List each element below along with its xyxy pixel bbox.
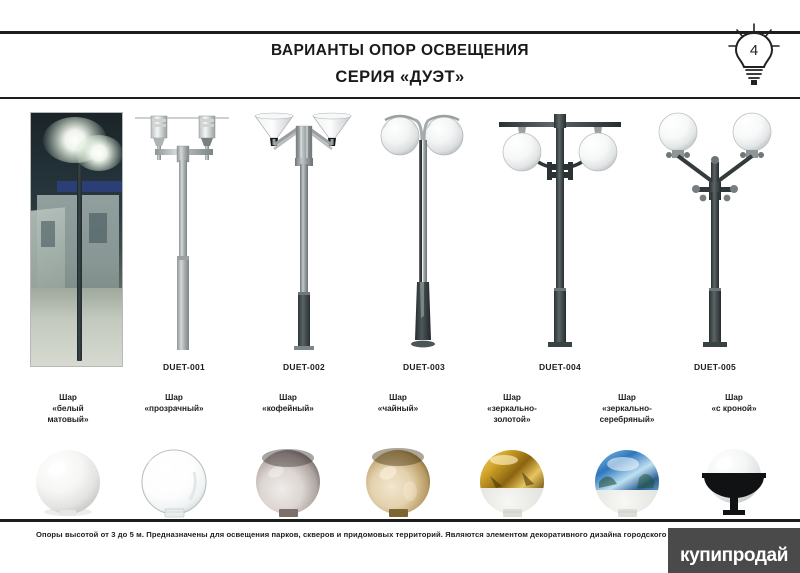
night-photo bbox=[30, 112, 123, 367]
globe-label-line1: Шар bbox=[572, 392, 682, 403]
pole-variant-duet-003: DUET-003 bbox=[368, 104, 480, 372]
globe-label-line1: Шар bbox=[682, 392, 786, 403]
globe-variant-tea: Шар «чайный» bbox=[348, 392, 448, 520]
page-title-line1: ВАРИАНТЫ ОПОР ОСВЕЩЕНИЯ bbox=[0, 38, 800, 64]
page-title: ВАРИАНТЫ ОПОР ОСВЕЩЕНИЯ СЕРИЯ «ДУЭТ» bbox=[0, 38, 800, 90]
globe-variant-white-matte: Шар «белый матовый» bbox=[18, 392, 118, 520]
globe-label-line2: «кофейный» bbox=[238, 403, 338, 414]
globe-variants-row: Шар «белый матовый» bbox=[0, 392, 800, 520]
globe-label-with-crown: Шар «с кроной» bbox=[682, 392, 786, 414]
globe-variant-mirror-gold: Шар «зеркально- золотой» bbox=[462, 392, 562, 520]
pole-code-duet-005: DUET-005 bbox=[650, 362, 780, 372]
pole-code-duet-002: DUET-002 bbox=[248, 362, 360, 372]
pole-drawing-duet-001 bbox=[128, 106, 240, 352]
globe-label-line1: Шар bbox=[124, 392, 224, 403]
pole-drawing-duet-004 bbox=[495, 106, 625, 352]
globe-image-white-matte bbox=[18, 446, 118, 518]
watermark-text: купипродай bbox=[680, 545, 788, 573]
globe-image-mirror-gold bbox=[462, 446, 562, 518]
pole-drawing-duet-005 bbox=[650, 106, 780, 352]
globe-label-line3: золотой» bbox=[462, 414, 562, 425]
pole-code-duet-001: DUET-001 bbox=[128, 362, 240, 372]
globe-label-line1: Шар bbox=[462, 392, 562, 403]
header-rule-bottom bbox=[0, 97, 800, 99]
globe-label-line2: «прозрачный» bbox=[124, 403, 224, 414]
lightbulb-icon: 4 bbox=[723, 22, 785, 90]
globe-image-coffee bbox=[238, 446, 338, 518]
globe-label-transparent: Шар «прозрачный» bbox=[124, 392, 224, 414]
globe-label-line1: Шар bbox=[18, 392, 118, 403]
globe-image-transparent bbox=[124, 446, 224, 518]
globe-label-coffee: Шар «кофейный» bbox=[238, 392, 338, 414]
globe-label-line2: «зеркально- bbox=[572, 403, 682, 414]
pole-drawing-duet-002 bbox=[248, 106, 360, 352]
pole-variants-row: DUET-001 bbox=[0, 104, 800, 372]
globe-label-line3: серебряный» bbox=[572, 414, 682, 425]
pole-variant-duet-005: DUET-005 bbox=[650, 104, 780, 372]
globe-label-line1: Шар bbox=[348, 392, 448, 403]
globe-image-with-crown bbox=[682, 446, 786, 518]
footer-rule bbox=[0, 519, 800, 522]
pole-code-duet-004: DUET-004 bbox=[495, 362, 625, 372]
globe-label-mirror-silver: Шар «зеркально- серебряный» bbox=[572, 392, 682, 425]
header-rule-top bbox=[0, 31, 800, 34]
globe-variant-with-crown: Шар «с кроной» bbox=[682, 392, 786, 520]
pole-variant-duet-004: DUET-004 bbox=[495, 104, 625, 372]
pole-drawing-duet-003 bbox=[368, 106, 480, 352]
globe-label-white-matte: Шар «белый матовый» bbox=[18, 392, 118, 425]
globe-image-mirror-silver bbox=[572, 446, 682, 518]
globe-label-mirror-gold: Шар «зеркально- золотой» bbox=[462, 392, 562, 425]
globe-image-tea bbox=[348, 446, 448, 518]
globe-label-line3: матовый» bbox=[18, 414, 118, 425]
globe-label-line2: «белый bbox=[18, 403, 118, 414]
pole-variant-duet-002: DUET-002 bbox=[248, 104, 360, 372]
catalog-page: ВАРИАНТЫ ОПОР ОСВЕЩЕНИЯ СЕРИЯ «ДУЭТ» 4 bbox=[0, 0, 800, 573]
globe-label-line1: Шар bbox=[238, 392, 338, 403]
globe-variant-coffee: Шар «кофейный» bbox=[238, 392, 338, 520]
badge-number: 4 bbox=[750, 42, 758, 59]
globe-label-line2: «с кроной» bbox=[682, 403, 786, 414]
globe-variant-mirror-silver: Шар «зеркально- серебряный» bbox=[572, 392, 682, 520]
globe-label-line2: «зеркально- bbox=[462, 403, 562, 414]
globe-label-tea: Шар «чайный» bbox=[348, 392, 448, 414]
watermark: купипродай bbox=[668, 528, 800, 573]
page-title-line2: СЕРИЯ «ДУЭТ» bbox=[0, 64, 800, 90]
globe-variant-transparent: Шар «прозрачный» bbox=[124, 392, 224, 520]
pole-code-duet-003: DUET-003 bbox=[368, 362, 480, 372]
pole-variant-duet-001: DUET-001 bbox=[128, 104, 240, 372]
globe-label-line2: «чайный» bbox=[348, 403, 448, 414]
